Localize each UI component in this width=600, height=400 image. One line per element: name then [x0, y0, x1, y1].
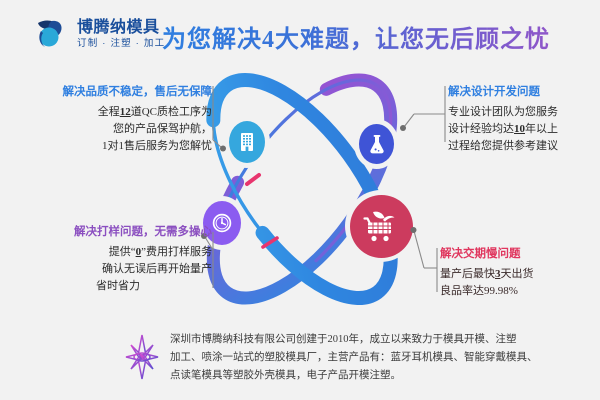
- footer-line: 加工、喷涂一站式的塑胶模具厂，主营产品有：蓝牙耳机模具、智能穿戴模具、: [170, 349, 538, 367]
- footer-line: 深圳市博腾纳科技有限公司创建于2010年，成立以来致力于模具开模、注塑: [170, 331, 538, 349]
- feature-block-delivery: 解决交期慢问题 量产后最快3天出货 良品率达99.98%: [440, 246, 598, 300]
- feature-line: 全程12道QC质检工序为: [36, 104, 212, 121]
- feature-line: 量产后最快3天出货: [440, 266, 598, 283]
- footer-line: 点读笔模具等塑胶外壳模具，电子产品开模注塑。: [170, 367, 538, 385]
- feature-line: 过程给您提供参考建议: [448, 138, 598, 155]
- feature-title-delivery: 解决交期慢问题: [440, 246, 598, 262]
- feature-block-sampling: 解决打样问题，无需多操心 提供“0”费用打样服务 确认无误后再开始量产 省时省力: [24, 224, 212, 295]
- company-intro-footer: 深圳市博腾纳科技有限公司创建于2010年，成立以来致力于模具开模、注塑 加工、喷…: [124, 331, 524, 385]
- feature-block-design: 解决设计开发问题 专业设计团队为您服务 设计经验均达10年以上 过程给您提供参考…: [448, 84, 598, 155]
- feature-line: 1对1售后服务为您解忧: [36, 138, 212, 155]
- feature-title-sampling: 解决打样问题，无需多操心: [24, 224, 212, 240]
- feature-line: 设计经验均达10年以上: [448, 121, 598, 138]
- feature-title-quality: 解决品质不稳定，售后无保障: [36, 84, 212, 100]
- compass-star-icon: [124, 333, 160, 381]
- feature-line: 省时省力: [24, 278, 212, 295]
- feature-line: 专业设计团队为您服务: [448, 104, 598, 121]
- feature-line: 确认无误后再开始量产: [24, 261, 212, 278]
- feature-block-quality: 解决品质不稳定，售后无保障 全程12道QC质检工序为 您的产品保驾护航， 1对1…: [36, 84, 212, 155]
- feature-line: 提供“0”费用打样服务: [24, 244, 212, 261]
- feature-line: 良品率达99.98%: [440, 283, 598, 300]
- company-intro-text: 深圳市博腾纳科技有限公司创建于2010年，成立以来致力于模具开模、注塑 加工、喷…: [170, 331, 538, 385]
- poster-canvas: 博腾纳模具 订制 · 注塑 · 加工 为您解决4大难题，让您无后顾之忧: [0, 0, 600, 400]
- feature-line: 您的产品保驾护航，: [36, 121, 212, 138]
- feature-title-design: 解决设计开发问题: [448, 84, 598, 100]
